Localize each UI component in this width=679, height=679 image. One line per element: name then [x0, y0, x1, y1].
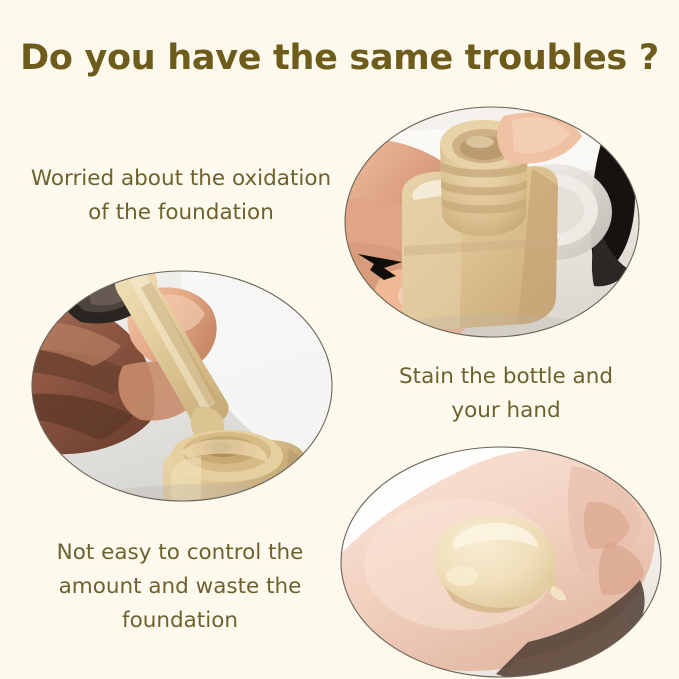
caption-worried-about-oxidation: Worried about the oxidation of the found…: [6, 162, 356, 230]
caption-hard-to-control-amount: Not easy to control the amount and waste…: [10, 536, 350, 638]
caption-line: Not easy to control the: [10, 536, 350, 570]
photo-foundation-dollop-on-hand: [340, 446, 662, 679]
photo-dropper-over-bottle: [31, 270, 334, 502]
caption-line: foundation: [10, 604, 350, 638]
poster-canvas: Do you have the same troubles ?: [0, 0, 679, 679]
caption-line: amount and waste the: [10, 570, 350, 604]
caption-stain-the-bottle: Stain the bottle and your hand: [348, 360, 664, 428]
page-title: Do you have the same troubles ?: [0, 36, 679, 80]
caption-line: your hand: [348, 394, 664, 428]
caption-line: of the foundation: [6, 196, 356, 230]
photo-hand-holding-open-bottle: [344, 106, 640, 338]
caption-line: Stain the bottle and: [348, 360, 664, 394]
caption-line: Worried about the oxidation: [6, 162, 356, 196]
